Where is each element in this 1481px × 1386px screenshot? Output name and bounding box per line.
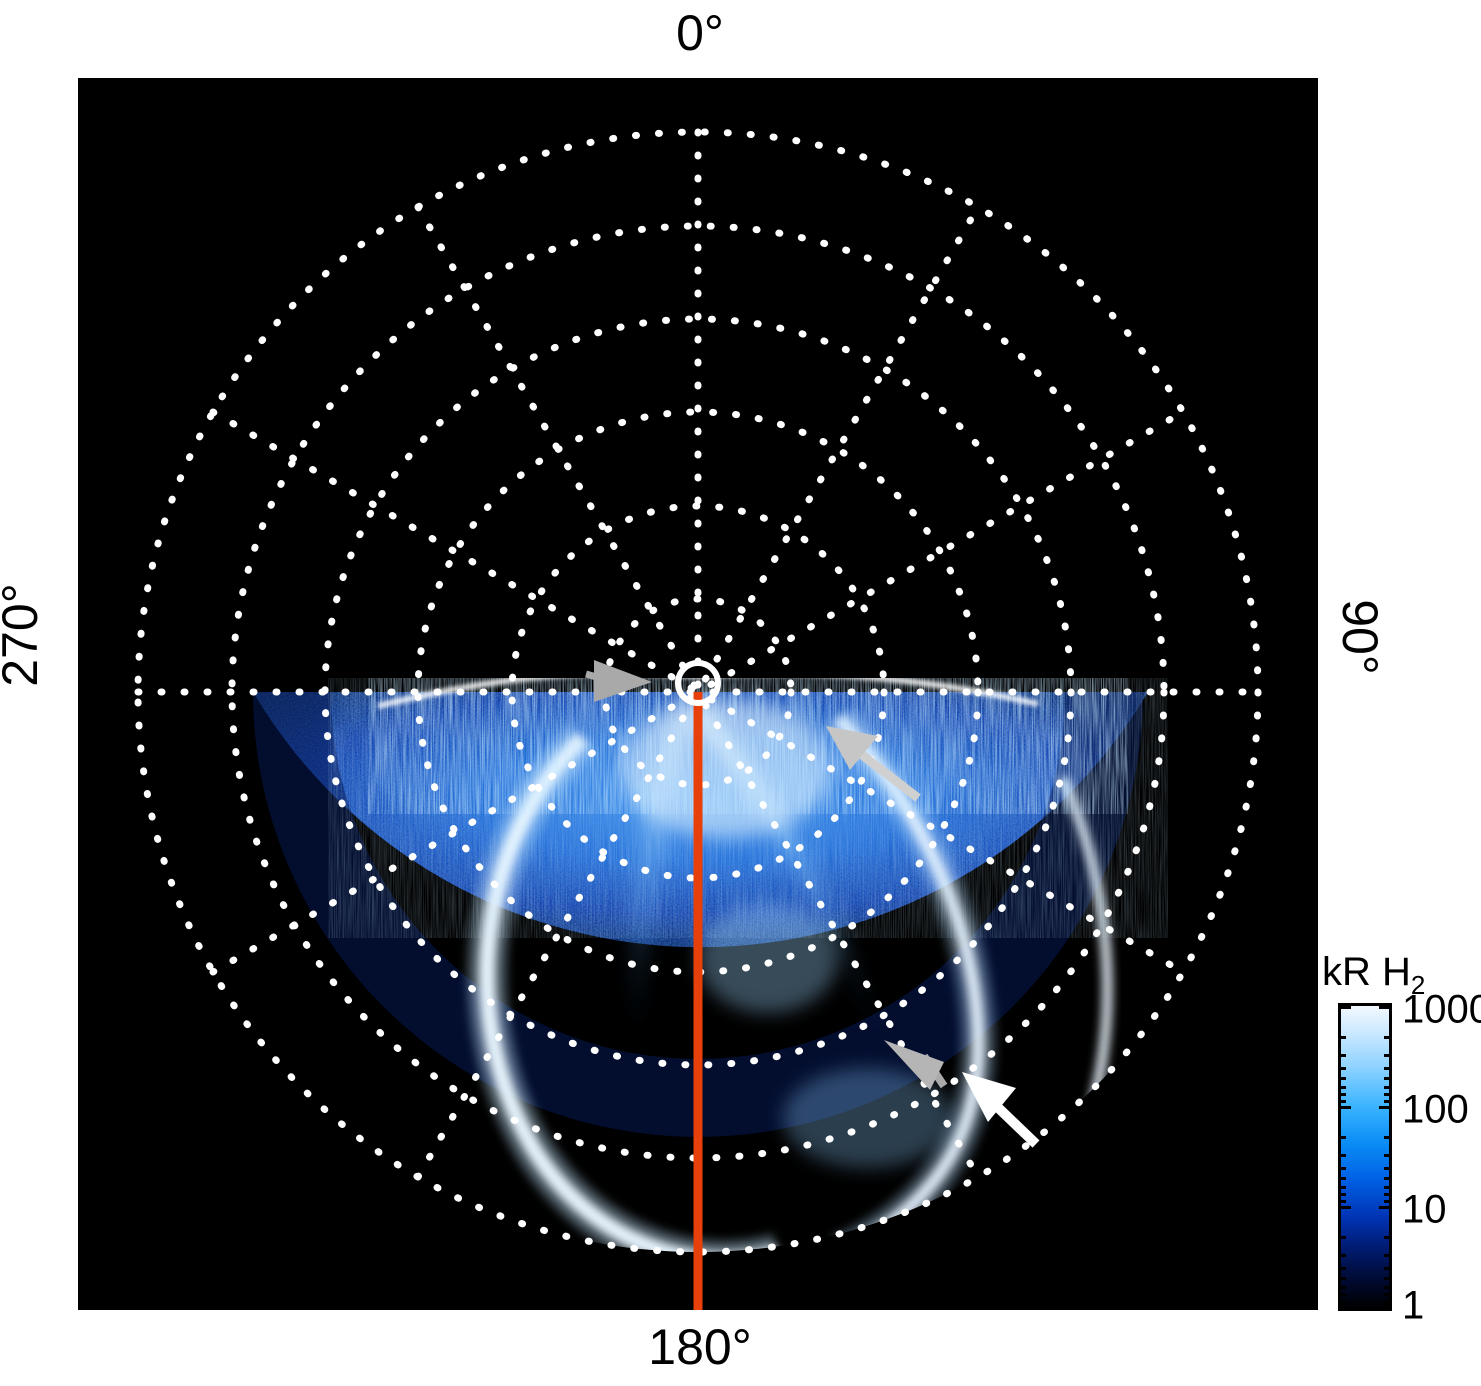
colorbar-minor-tick [1338, 1167, 1346, 1170]
colorbar-minor-tick [1338, 1054, 1346, 1057]
colorbar-minor-tick [1338, 1136, 1346, 1139]
colorbar-minor-tick [1384, 1100, 1392, 1103]
colorbar-minor-tick [1384, 1093, 1392, 1096]
axis-label-bottom: 180° [0, 1322, 1400, 1372]
colorbar-label-10: 10 [1402, 1188, 1447, 1233]
colorbar-tick-100-left [1338, 1106, 1351, 1109]
colorbar-minor-tick [1338, 1236, 1346, 1239]
colorbar-tick-1-right [1379, 1306, 1392, 1309]
colorbar-minor-tick [1338, 1200, 1346, 1203]
colorbar-gradient [1338, 1003, 1392, 1311]
colorbar-minor-tick [1338, 1086, 1346, 1089]
colorbar-minor-tick [1384, 1193, 1392, 1196]
colorbar-tick-1000-right [1379, 1006, 1392, 1009]
colorbar-tick-10-right [1379, 1206, 1392, 1209]
axis-label-top: 0° [0, 8, 1400, 58]
colorbar-minor-tick [1384, 1236, 1392, 1239]
colorbar-minor-tick [1384, 1136, 1392, 1139]
colorbar-minor-tick [1338, 1186, 1346, 1189]
colorbar-minor-tick [1384, 1086, 1392, 1089]
colorbar-minor-tick [1338, 1093, 1346, 1096]
colorbar-minor-tick [1384, 1286, 1392, 1289]
colorbar-minor-tick [1338, 1177, 1346, 1180]
colorbar-minor-tick [1338, 1267, 1346, 1270]
colorbar-minor-tick [1384, 1254, 1392, 1257]
axis-label-right: 90° [1335, 557, 1385, 717]
colorbar-minor-tick [1338, 1036, 1346, 1039]
colorbar-minor-tick [1338, 1293, 1346, 1296]
colorbar-tick-1000-left [1338, 1006, 1351, 1009]
colorbar-minor-tick [1384, 1267, 1392, 1270]
colorbar-tick-100-right [1379, 1106, 1392, 1109]
colorbar-minor-tick [1384, 1077, 1392, 1080]
colorbar-minor-tick [1384, 1067, 1392, 1070]
colorbar-minor-tick [1384, 1293, 1392, 1296]
colorbar-minor-tick [1338, 1067, 1346, 1070]
colorbar-label-1000: 1000 [1402, 988, 1481, 1033]
colorbar-minor-tick [1338, 1100, 1346, 1103]
colorbar-minor-tick [1338, 1154, 1346, 1157]
colorbar-minor-tick [1384, 1036, 1392, 1039]
colorbar-title-main: kR H [1322, 950, 1411, 994]
colorbar-minor-tick [1384, 1054, 1392, 1057]
colorbar-minor-tick [1384, 1177, 1392, 1180]
colorbar-minor-tick [1338, 1193, 1346, 1196]
colorbar-minor-tick [1338, 1077, 1346, 1080]
colorbar-minor-tick [1338, 1286, 1346, 1289]
polar-projection-svg [78, 78, 1318, 1310]
axis-label-left: 270° [0, 555, 45, 715]
colorbar-minor-tick [1384, 1300, 1392, 1303]
colorbar-label-100: 100 [1402, 1088, 1469, 1133]
colorbar-tick-1-left [1338, 1306, 1351, 1309]
polar-plot-area [78, 78, 1318, 1310]
colorbar-minor-tick [1338, 1254, 1346, 1257]
colorbar-minor-tick [1384, 1277, 1392, 1280]
colorbar-label-1: 1 [1402, 1284, 1424, 1329]
colorbar-minor-tick [1384, 1200, 1392, 1203]
terminator-streaks [328, 664, 1168, 938]
colorbar-minor-tick [1384, 1186, 1392, 1189]
colorbar-minor-tick [1384, 1167, 1392, 1170]
colorbar-tick-10-left [1338, 1206, 1351, 1209]
colorbar-minor-tick [1338, 1300, 1346, 1303]
figure-root: 0° 180° 270° 90° [0, 0, 1481, 1386]
colorbar-minor-tick [1338, 1277, 1346, 1280]
colorbar-minor-tick [1384, 1154, 1392, 1157]
colorbar: kR H2 [1322, 950, 1481, 1330]
